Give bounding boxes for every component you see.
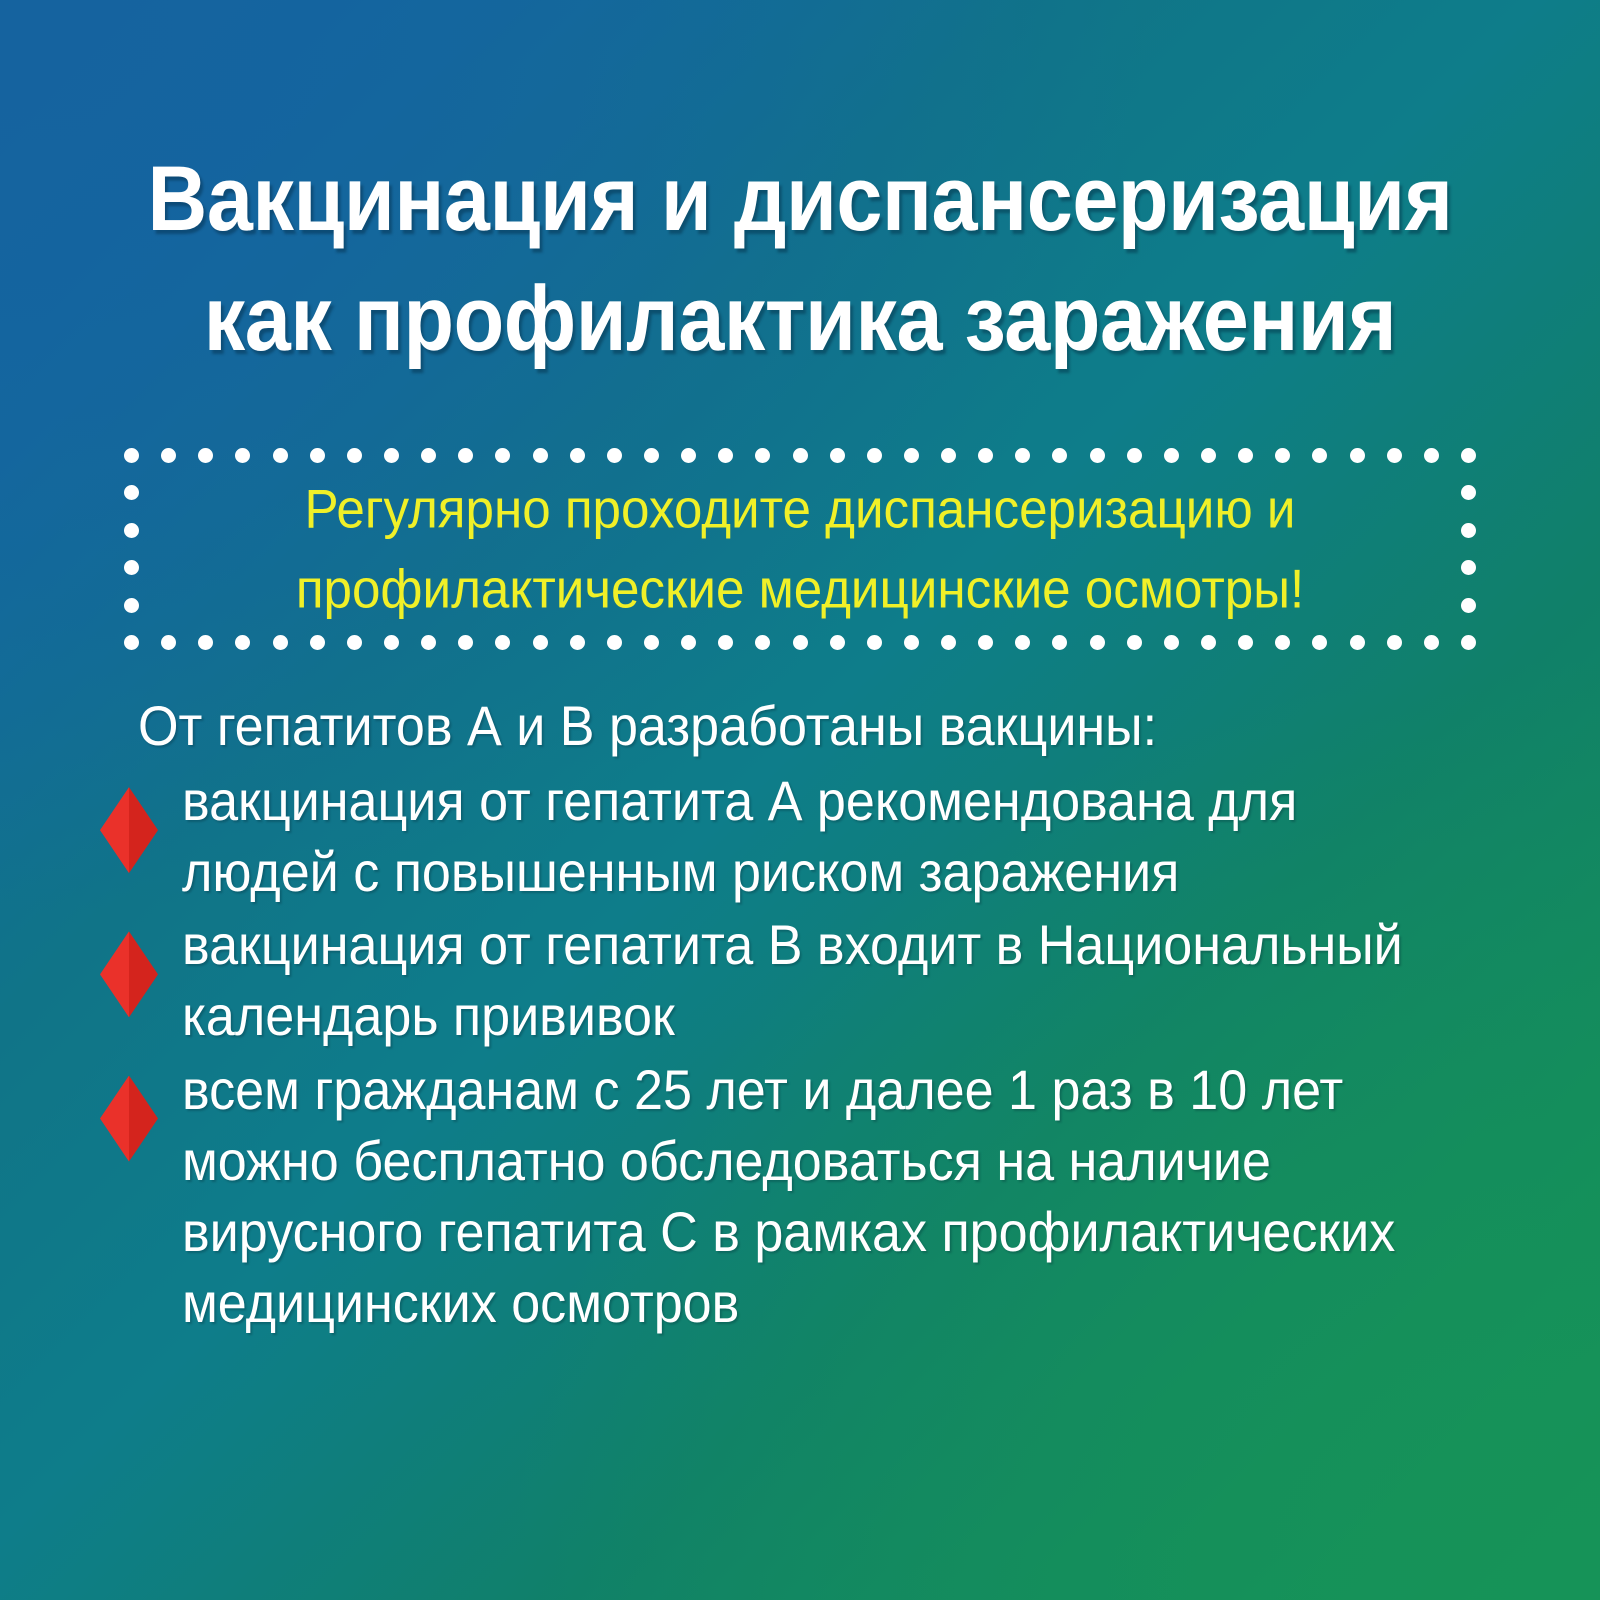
border-dot — [273, 635, 288, 650]
border-dot — [310, 635, 325, 650]
border-dot — [1461, 560, 1476, 575]
border-dot — [198, 448, 213, 463]
border-dot — [978, 448, 993, 463]
border-dot — [1424, 448, 1439, 463]
red-diamond-icon — [100, 931, 158, 1017]
border-dot — [124, 523, 139, 538]
list-item-line: людей с повышенным риском заражения — [182, 836, 1426, 907]
list-item-text: всем гражданам с 25 лет и далее 1 раз в … — [182, 1054, 1426, 1338]
list-item-line: всем гражданам с 25 лет и далее 1 раз в … — [182, 1054, 1426, 1125]
border-dot — [718, 635, 733, 650]
border-dot — [1350, 448, 1365, 463]
list-item-line: вакцинация от гепатита А рекомендована д… — [182, 765, 1426, 836]
border-dot — [1387, 448, 1402, 463]
border-dot — [124, 485, 139, 500]
border-dot — [1090, 635, 1105, 650]
border-dot — [1127, 635, 1142, 650]
border-dot — [124, 598, 139, 613]
border-dot — [198, 635, 213, 650]
poster-canvas: Вакцинация и диспансеризация как профила… — [0, 0, 1600, 1600]
list-item-line: вакцинация от гепатита В входит в Национ… — [182, 909, 1426, 980]
border-dot — [533, 448, 548, 463]
page-title: Вакцинация и диспансеризация как профила… — [70, 140, 1530, 379]
border-dot — [1052, 448, 1067, 463]
list-item: всем гражданам с 25 лет и далее 1 раз в … — [96, 1054, 1520, 1338]
border-dot — [904, 448, 919, 463]
border-dot — [1461, 448, 1476, 463]
callout-text: Регулярно проходите диспансеризацию и пр… — [184, 469, 1416, 630]
border-dot — [830, 448, 845, 463]
border-dot — [533, 635, 548, 650]
border-dot — [310, 448, 325, 463]
list-item-line: медицинских осмотров — [182, 1267, 1426, 1338]
border-dot — [1201, 635, 1216, 650]
body-intro-line: От гепатитов А и В разработаны вакцины: — [138, 690, 1423, 761]
body-block: От гепатитов А и В разработаны вакцины: … — [96, 690, 1520, 1340]
title-line-1: Вакцинация и диспансеризация — [143, 140, 1457, 260]
border-dot — [793, 635, 808, 650]
list-item-line: вирусного гепатита С в рамках профилакти… — [182, 1196, 1426, 1267]
border-dot — [867, 635, 882, 650]
border-dot — [570, 635, 585, 650]
border-dot — [570, 448, 585, 463]
border-dot — [644, 635, 659, 650]
border-dot — [1312, 635, 1327, 650]
poster-content: Вакцинация и диспансеризация как профила… — [0, 0, 1600, 1600]
border-dot — [124, 560, 139, 575]
border-dot — [1015, 448, 1030, 463]
border-dot — [1350, 635, 1365, 650]
border-dot — [1164, 635, 1179, 650]
border-dot — [755, 635, 770, 650]
border-dot — [235, 635, 250, 650]
border-dot — [384, 635, 399, 650]
border-dot — [793, 448, 808, 463]
border-dot — [867, 448, 882, 463]
callout-line-1: Регулярно проходите диспансеризацию и — [227, 469, 1373, 549]
border-dot — [421, 448, 436, 463]
border-dot — [421, 635, 436, 650]
border-dot — [1090, 448, 1105, 463]
border-dot — [161, 448, 176, 463]
callout-box: Регулярно проходите диспансеризацию и пр… — [124, 448, 1476, 650]
border-dot — [1312, 448, 1327, 463]
border-dot — [941, 448, 956, 463]
border-dot — [124, 448, 139, 463]
border-dot — [941, 635, 956, 650]
callout-line-2: профилактические медицинские осмотры! — [227, 549, 1373, 629]
border-dot — [607, 635, 622, 650]
border-dot — [830, 635, 845, 650]
border-dot — [755, 448, 770, 463]
border-dot — [1461, 523, 1476, 538]
border-dot — [161, 635, 176, 650]
border-dot — [718, 448, 733, 463]
border-dot — [681, 448, 696, 463]
border-dot — [495, 448, 510, 463]
border-dot — [235, 448, 250, 463]
border-dot — [681, 635, 696, 650]
border-dot — [1164, 448, 1179, 463]
border-dot — [1201, 448, 1216, 463]
border-dot — [458, 448, 473, 463]
border-dot — [904, 635, 919, 650]
border-dot — [273, 448, 288, 463]
border-dot — [458, 635, 473, 650]
border-dot — [1238, 448, 1253, 463]
list-item-text: вакцинация от гепатита В входит в Национ… — [182, 909, 1426, 1051]
list-item-text: вакцинация от гепатита А рекомендована д… — [182, 765, 1426, 907]
border-dot — [1424, 635, 1439, 650]
red-diamond-icon — [100, 1076, 158, 1162]
border-dot — [1461, 485, 1476, 500]
border-dot — [1461, 598, 1476, 613]
title-line-2: как профилактика заражения — [143, 260, 1457, 380]
border-dot — [1387, 635, 1402, 650]
list-item: вакцинация от гепатита В входит в Национ… — [96, 909, 1520, 1051]
border-dot — [1052, 635, 1067, 650]
border-dot — [1127, 448, 1142, 463]
border-dot — [1238, 635, 1253, 650]
border-dot — [1275, 635, 1290, 650]
border-dot — [384, 448, 399, 463]
border-dot — [1275, 448, 1290, 463]
border-dot — [978, 635, 993, 650]
border-dot — [124, 635, 139, 650]
border-dot — [1015, 635, 1030, 650]
border-dot — [1461, 635, 1476, 650]
border-dot — [495, 635, 510, 650]
list-item-line: можно бесплатно обследоваться на наличие — [182, 1125, 1426, 1196]
border-dot — [347, 448, 362, 463]
red-diamond-icon — [100, 787, 158, 873]
border-dot — [347, 635, 362, 650]
list-item: вакцинация от гепатита А рекомендована д… — [96, 765, 1520, 907]
border-dot — [644, 448, 659, 463]
list-item-line: календарь прививок — [182, 980, 1426, 1051]
border-dot — [607, 448, 622, 463]
